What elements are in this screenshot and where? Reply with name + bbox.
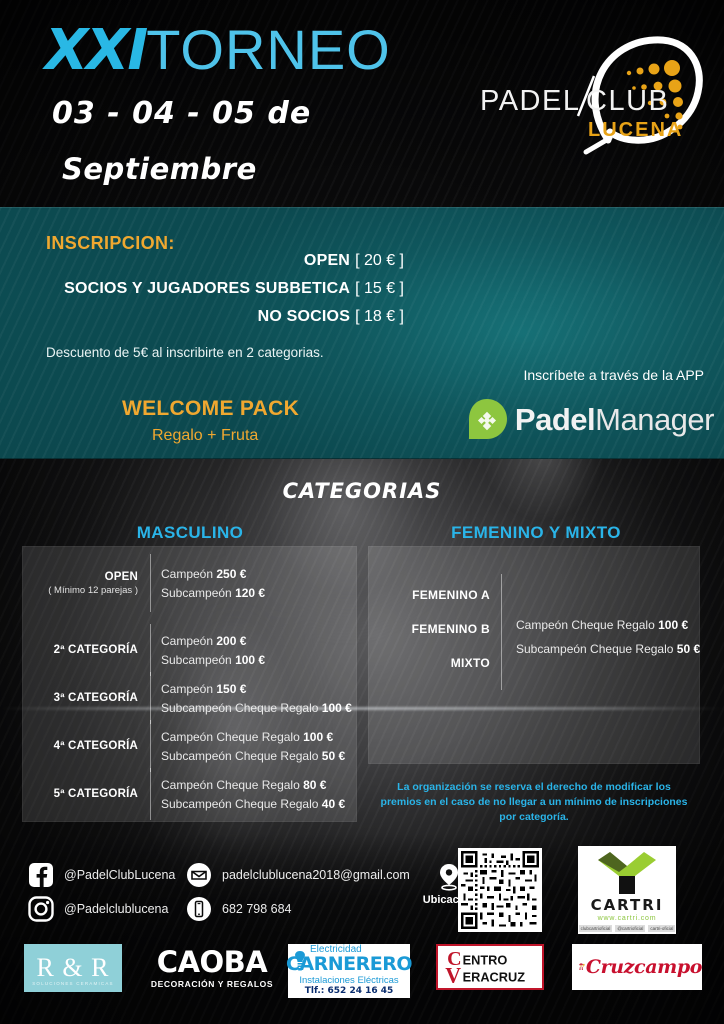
cartri-y-icon	[582, 850, 672, 896]
prize-label: Campeón Cheque Regalo	[161, 778, 300, 792]
prize-amount: 120 €	[235, 586, 265, 600]
padelmanager-word-padel: Padel	[515, 402, 595, 437]
category-subnote: ( Mínimo 12 parejas )	[22, 585, 138, 596]
row-divider	[501, 574, 502, 690]
instagram-handle: @Padelclublucena	[64, 902, 168, 916]
fee-list: OPEN[ 20 € ] SOCIOS Y JUGADORES SUBBETIC…	[44, 252, 404, 336]
prize-amount: 100 €	[235, 653, 265, 667]
prize-item: Subcampeón Cheque Regalo 50 €	[516, 642, 700, 656]
sponsor-carnerero-phone: Tlf.: 652 24 16 45	[305, 986, 394, 997]
svg-text:ERACRUZ: ERACRUZ	[463, 970, 526, 985]
cartri-url: www.cartri.com	[582, 915, 672, 922]
prize-label: Campeón	[161, 567, 213, 581]
sponsor-caoba-name: CAOBA	[157, 948, 267, 977]
prize-label: Campeón	[161, 634, 213, 648]
cartri-social-item: @cartrioficial	[615, 925, 645, 932]
location-qr-code[interactable]	[458, 848, 542, 932]
contact-instagram[interactable]: @Padelclublucena	[28, 896, 168, 922]
category-name: 5ª CATEGORÍA	[54, 788, 138, 800]
fee-row: OPEN[ 20 € ]	[44, 252, 404, 270]
categories-title: CATEGORIAS	[0, 479, 724, 503]
phone-number: 682 798 684	[222, 902, 292, 916]
sponsor-ryr-tagline: SOLUCIONES CERAMICAS	[24, 981, 122, 986]
cruzcampo-mascot-icon	[578, 948, 586, 986]
sponsor-bar: R & R SOLUCIONES CERAMICAS CAOBA DECORAC…	[0, 944, 724, 1014]
prize-item: Campeón 150 €	[161, 682, 357, 696]
svg-text:LUCENA: LUCENA	[588, 119, 683, 141]
svg-text:V: V	[445, 963, 461, 988]
padelmanager-word-manager: Manager	[595, 402, 714, 437]
prize-item: Subcampeón Cheque Regalo 50 €	[161, 749, 357, 763]
padel-club-lucena-logo: PADEL CLUB LUCENA	[458, 28, 708, 158]
prize-list: Campeón 200 € Subcampeón 100 €	[151, 629, 357, 672]
prize-label: Campeón	[161, 682, 213, 696]
tournament-poster: XXITORNEO 03 - 04 - 05 de Septiembre	[0, 0, 724, 1024]
club-logo-icon: PADEL CLUB LUCENA	[458, 28, 708, 158]
fee-row: NO SOCIOS[ 18 € ]	[44, 308, 404, 326]
inscription-title: INSCRIPCION:	[46, 233, 175, 254]
femenino-heading: FEMENINO Y MIXTO	[368, 523, 704, 543]
fee-price: [ 15 € ]	[355, 280, 404, 297]
sponsor-cruzcampo: Cruzcampo	[572, 944, 702, 990]
prize-label: Campeón Cheque Regalo	[516, 618, 655, 632]
page-title: XXITORNEO	[45, 22, 391, 79]
category-name: MIXTO	[368, 656, 490, 670]
category-label: 5ª CATEGORÍA	[22, 788, 150, 800]
prize-item: Campeón Cheque Regalo 80 €	[161, 778, 357, 792]
fee-name: NO SOCIOS	[258, 308, 350, 325]
padelmanager-wordmark: PadelManager	[515, 404, 714, 435]
map-pin-icon	[438, 863, 460, 891]
masculino-prize-panel: OPEN ( Mínimo 12 parejas ) Campeón 250 €…	[22, 546, 357, 822]
prize-item: Campeón 250 €	[161, 567, 357, 581]
facebook-icon	[28, 862, 54, 888]
mobile-phone-icon	[186, 896, 212, 922]
sponsor-ryr-name: R & R	[37, 955, 110, 981]
prize-item: Campeón 200 €	[161, 634, 357, 648]
fee-row: SOCIOS Y JUGADORES SUBBETICA[ 15 € ]	[44, 280, 404, 298]
svg-text:CLUB: CLUB	[586, 85, 669, 117]
prize-label: Subcampeón	[161, 653, 232, 667]
event-month: Septiembre	[62, 152, 257, 186]
contact-facebook[interactable]: @PadelClubLucena	[28, 862, 175, 888]
table-row: 3ª CATEGORÍA Campeón 150 € Subcampeón Ch…	[22, 672, 357, 724]
poster-header: XXITORNEO 03 - 04 - 05 de Septiembre	[0, 0, 724, 207]
fee-name: SOCIOS Y JUGADORES SUBBETICA	[64, 280, 350, 297]
category-name: FEMENINO B	[368, 622, 490, 636]
prize-amount: 100 €	[658, 618, 688, 632]
category-label: 3ª CATEGORÍA	[22, 692, 150, 704]
prize-item: Campeón Cheque Regalo 100 €	[516, 618, 700, 632]
prize-amount: 80 €	[303, 778, 326, 792]
prize-amount: 50 €	[322, 749, 345, 763]
prize-item: Subcampeón Cheque Regalo 100 €	[161, 701, 357, 715]
sponsor-cruzcampo-name: Cruzcampo	[586, 956, 702, 978]
padelmanager-logo[interactable]: PadelManager	[465, 397, 714, 441]
prize-item: Campeón Cheque Regalo 100 €	[161, 730, 357, 744]
masculino-heading: MASCULINO	[20, 523, 360, 543]
envelope-icon	[186, 862, 212, 888]
padelmanager-droplet-icon	[465, 397, 509, 441]
prize-amount: 50 €	[677, 642, 700, 656]
prize-disclaimer: La organización se reserva el derecho de…	[376, 780, 692, 826]
contact-phone[interactable]: 682 798 684	[186, 896, 292, 922]
prize-label: Campeón Cheque Regalo	[161, 730, 300, 744]
category-name: 4ª CATEGORÍA	[54, 740, 138, 752]
prize-item: Subcampeón Cheque Regalo 40 €	[161, 797, 357, 811]
prize-label: Subcampeón Cheque Regalo	[516, 642, 673, 656]
prize-label: Subcampeón Cheque Regalo	[161, 797, 318, 811]
instagram-icon	[28, 896, 54, 922]
contact-email[interactable]: padelclublucena2018@gmail.com	[186, 862, 410, 888]
sponsor-centro-veracruz: C ENTRO V ERACRUZ	[436, 944, 544, 990]
fee-price: [ 20 € ]	[355, 252, 404, 269]
femenino-mixto-prize-panel: FEMENINO A FEMENINO B MIXTO Campeón Cheq…	[368, 546, 700, 764]
prize-amount: 250 €	[216, 567, 246, 581]
title-edition-number: XXI	[45, 18, 146, 83]
event-dates: 03 - 04 - 05 de	[52, 96, 311, 131]
centro-veracruz-wordmark: C ENTRO V ERACRUZ	[438, 946, 542, 988]
facebook-handle: @PadelClubLucena	[64, 868, 175, 882]
fee-name: OPEN	[304, 252, 350, 269]
category-name: OPEN	[105, 571, 138, 583]
cartri-social-item: cartri-oficial	[648, 925, 675, 932]
cartri-wordmark: CARTRI	[582, 898, 672, 913]
prize-list: Campeón Cheque Regalo 80 € Subcampeón Ch…	[151, 773, 357, 816]
category-label: 2ª CATEGORÍA	[22, 644, 150, 656]
svg-text:ENTRO: ENTRO	[463, 952, 508, 967]
prize-label: Subcampeón	[161, 586, 232, 600]
category-name: 3ª CATEGORÍA	[54, 692, 138, 704]
sponsor-carnerero-line3: Instalaciones Eléctricas	[299, 975, 398, 986]
table-row: 4ª CATEGORÍA Campeón Cheque Regalo 100 €…	[22, 720, 357, 772]
prize-label: Subcampeón Cheque Regalo	[161, 701, 318, 715]
prize-list: Campeón Cheque Regalo 100 € Subcampeón C…	[151, 725, 357, 768]
table-row: OPEN ( Mínimo 12 parejas ) Campeón 250 €…	[22, 554, 357, 612]
sponsor-caoba-tagline: DECORACIÓN Y REGALOS	[151, 979, 273, 989]
prize-amount: 40 €	[322, 797, 345, 811]
svg-text:PADEL: PADEL	[480, 85, 580, 117]
cartri-social-row: clubcartrioficial @cartrioficial cartri-…	[582, 925, 672, 932]
prize-amount: 100 €	[303, 730, 333, 744]
prize-list: Campeón 250 € Subcampeón 120 €	[151, 562, 357, 605]
prize-amount: 200 €	[216, 634, 246, 648]
category-label: 4ª CATEGORÍA	[22, 740, 150, 752]
app-signup-note: Inscríbete a través de la APP	[523, 367, 704, 383]
lightbulb-icon	[293, 950, 307, 972]
sponsor-carnerero: Electricidad CARNERERO Instalaciones Elé…	[288, 944, 410, 998]
prize-label: Subcampeón Cheque Regalo	[161, 749, 318, 763]
table-row: 5ª CATEGORÍA Campeón Cheque Regalo 80 € …	[22, 768, 357, 820]
discount-note: Descuento de 5€ al inscribirte en 2 cate…	[46, 345, 324, 360]
sponsor-caoba: CAOBA DECORACIÓN Y REGALOS	[148, 944, 276, 992]
sponsor-ryr: R & R SOLUCIONES CERAMICAS	[24, 944, 122, 992]
prize-list: Campeón Cheque Regalo 100 € Subcampeón C…	[516, 608, 700, 666]
inscription-band: INSCRIPCION: OPEN[ 20 € ] SOCIOS Y JUGAD…	[0, 207, 724, 459]
prize-list: Campeón 150 € Subcampeón Cheque Regalo 1…	[151, 677, 357, 720]
prize-amount: 150 €	[216, 682, 246, 696]
cartri-sponsor-logo: CARTRI www.cartri.com clubcartrioficial …	[578, 846, 676, 934]
title-word-torneo: TORNEO	[146, 18, 391, 81]
email-address: padelclublucena2018@gmail.com	[222, 868, 410, 882]
femenino-category-list: FEMENINO A FEMENINO B MIXTO	[368, 568, 500, 690]
category-name: FEMENINO A	[368, 588, 490, 602]
category-name: 2ª CATEGORÍA	[54, 644, 138, 656]
prize-item: Subcampeón 100 €	[161, 653, 357, 667]
prize-item: Subcampeón 120 €	[161, 586, 357, 600]
prize-amount: 100 €	[322, 701, 352, 715]
welcome-pack-title: WELCOME PACK	[122, 397, 299, 421]
cartri-social-item: clubcartrioficial	[579, 925, 613, 932]
table-row: 2ª CATEGORÍA Campeón 200 € Subcampeón 10…	[22, 624, 357, 676]
category-label: OPEN ( Mínimo 12 parejas )	[22, 571, 150, 596]
fee-price: [ 18 € ]	[355, 308, 404, 325]
welcome-pack-subtitle: Regalo + Fruta	[152, 427, 258, 445]
qr-code-icon	[461, 851, 539, 929]
